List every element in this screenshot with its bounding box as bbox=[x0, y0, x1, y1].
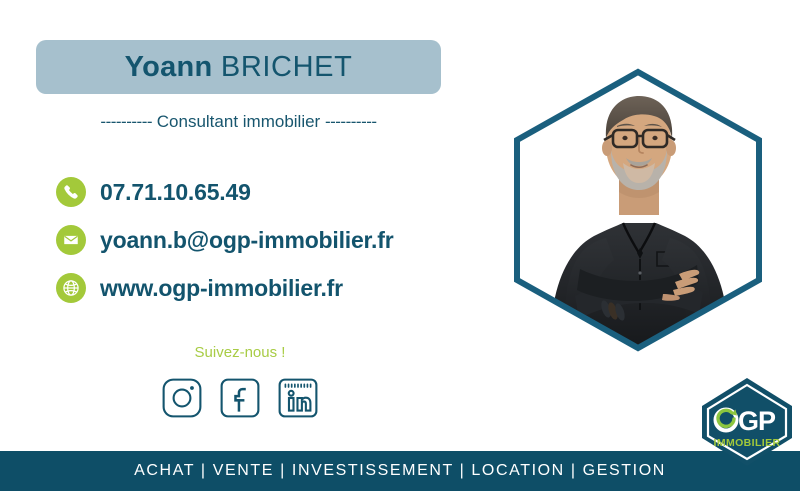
business-card: Yoann BRICHET ---------- Consultant immo… bbox=[0, 0, 800, 491]
svg-text:GP: GP bbox=[738, 406, 776, 436]
email-address: yoann.b@ogp-immobilier.fr bbox=[100, 227, 393, 254]
contact-row-website[interactable]: www.ogp-immobilier.fr bbox=[56, 264, 393, 312]
facebook-icon[interactable] bbox=[219, 377, 261, 419]
last-name: BRICHET bbox=[221, 51, 353, 83]
phone-number: 07.71.10.65.49 bbox=[100, 179, 251, 206]
svg-text:IMMOBILIER: IMMOBILIER bbox=[714, 437, 781, 449]
instagram-icon[interactable] bbox=[161, 377, 203, 419]
contact-list: 07.71.10.65.49 yoann.b@ogp-immobilier.fr bbox=[56, 168, 393, 312]
contact-row-email[interactable]: yoann.b@ogp-immobilier.fr bbox=[56, 216, 393, 264]
job-dash-right: ---------- bbox=[325, 112, 377, 131]
email-icon bbox=[56, 225, 86, 255]
phone-icon bbox=[56, 177, 86, 207]
name-banner: Yoann BRICHET bbox=[36, 40, 441, 94]
linkedin-icon[interactable] bbox=[277, 377, 319, 419]
page-title: Yoann BRICHET bbox=[125, 51, 353, 84]
contact-row-phone[interactable]: 07.71.10.65.49 bbox=[56, 168, 393, 216]
job-dash-left: ---------- bbox=[100, 112, 152, 131]
globe-icon bbox=[56, 273, 86, 303]
first-name: Yoann bbox=[125, 51, 213, 83]
portrait bbox=[503, 60, 773, 360]
services-bar: ACHAT | VENTE | INVESTISSEMENT | LOCATIO… bbox=[0, 451, 800, 491]
services-text: ACHAT | VENTE | INVESTISSEMENT | LOCATIO… bbox=[134, 462, 666, 480]
social-heading: Suivez-nous ! bbox=[120, 344, 360, 361]
website-url: www.ogp-immobilier.fr bbox=[100, 275, 343, 302]
logo: GP IMMOBILIER bbox=[698, 376, 796, 468]
job-title: ---------- Consultant immobilier -------… bbox=[36, 112, 441, 132]
social-icons bbox=[120, 377, 360, 419]
job-title-label: Consultant immobilier bbox=[157, 112, 320, 131]
